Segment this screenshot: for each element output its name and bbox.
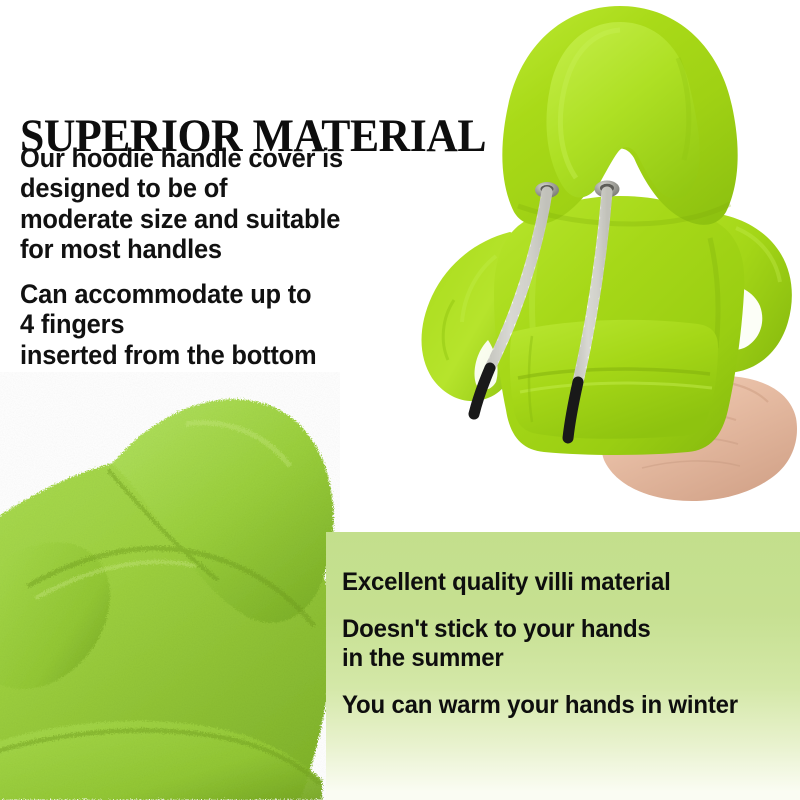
fleece-villi-grain [0,372,340,800]
copy-paragraph: Can accommodate up to 4 fingers inserted… [20,279,375,370]
copy-line: inserted from the bottom [20,340,375,370]
copy-line: for most handles [20,234,375,264]
hoodie-kangaroo-pocket [510,320,718,439]
fleece-texture-photo [0,372,340,800]
benefit-item: Doesn't stick to your hands in the summe… [342,615,778,673]
copy-line: Our hoodie handle cover is [20,143,375,173]
copy-line: designed to be of [20,173,375,203]
left-copy-block: Our hoodie handle cover is designed to b… [20,143,390,370]
benefit-line: Excellent quality villi material [342,568,778,597]
benefits-list: Excellent quality villi material Doesn't… [342,568,796,720]
benefits-panel: Excellent quality villi material Doesn't… [326,532,800,800]
benefit-item: You can warm your hands in winter [342,691,778,720]
benefit-line: in the summer [342,644,778,673]
copy-paragraph: Our hoodie handle cover is designed to b… [20,143,375,265]
benefit-line: Doesn't stick to your hands [342,615,778,644]
copy-line: Can accommodate up to [20,279,375,309]
benefit-line: You can warm your hands in winter [342,691,778,720]
copy-line: moderate size and suitable [20,204,375,234]
hoodie-product-photo [392,0,800,525]
benefit-item: Excellent quality villi material [342,568,778,597]
infographic-canvas: SUPERIOR MATERIAL Our hoodie handle cove… [0,0,800,800]
copy-line: 4 fingers [20,309,375,339]
